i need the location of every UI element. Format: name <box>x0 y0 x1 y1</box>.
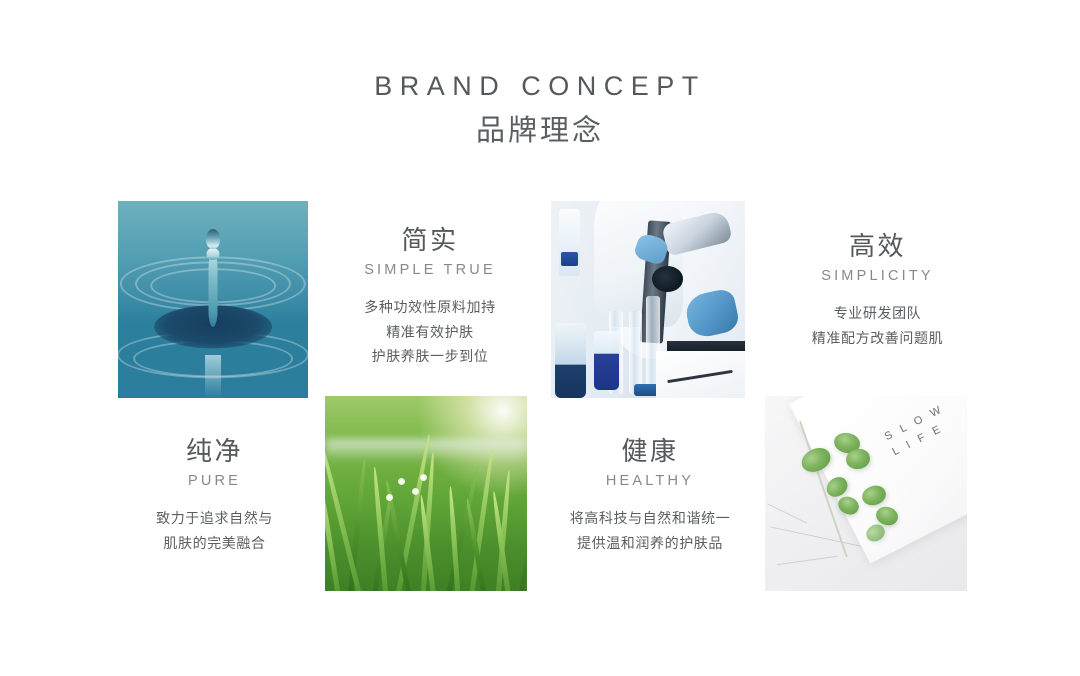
concept-description: 致力于追求自然与 肌肤的完美融合 <box>112 506 317 555</box>
concept-title-en: SIMPLE TRUE <box>330 262 530 279</box>
lab-coat-secondary <box>594 201 683 327</box>
droplet-bead <box>207 248 220 260</box>
concept-title-cn: 简实 <box>330 226 530 256</box>
water-droplet-photo <box>118 201 308 398</box>
small-flower <box>398 478 405 485</box>
slide-canvas: BRAND CONCEPT 品牌理念 简实 SIMPLE TRUE 多种功效性原… <box>0 0 1080 676</box>
concept-description-line: 多种功效性原料加持 <box>330 295 530 320</box>
falling-droplet <box>206 229 220 249</box>
concept-description-line: 精准配方改善问题肌 <box>770 326 985 351</box>
concept-description: 多种功效性原料加持 精准有效护肤 护肤养肤一步到位 <box>330 295 530 369</box>
concept-title-en: HEALTHY <box>540 473 760 490</box>
concept-block-healthy: 健康 HEALTHY 将高科技与自然和谐统一 提供温和润养的护肤品 <box>540 437 760 555</box>
page-header: BRAND CONCEPT 品牌理念 <box>0 72 1080 148</box>
microscope-lens <box>652 266 683 292</box>
glass-flask-blue <box>594 331 619 390</box>
concept-title-cn: 健康 <box>540 437 760 467</box>
concept-title-cn: 高效 <box>770 232 985 262</box>
droplet-reflection <box>205 355 221 398</box>
laboratory-photo <box>551 201 745 398</box>
concept-block-pure: 纯净 PURE 致力于追求自然与 肌肤的完美融合 <box>112 437 317 555</box>
concept-title-en: PURE <box>112 473 317 490</box>
small-flower <box>412 488 419 495</box>
concept-description-line: 提供温和润养的护肤品 <box>540 531 760 556</box>
water-column <box>209 252 218 327</box>
small-flower <box>420 474 427 481</box>
concept-block-simplicity: 高效 SIMPLICITY 专业研发团队 精准配方改善问题肌 <box>770 232 985 350</box>
small-flower <box>386 494 393 501</box>
concept-description-line: 致力于追求自然与 <box>112 506 317 531</box>
concept-description-line: 精准有效护肤 <box>330 320 530 345</box>
concept-description-line: 将高科技与自然和谐统一 <box>540 506 760 531</box>
concept-block-simple-true: 简实 SIMPLE TRUE 多种功效性原料加持 精准有效护肤 护肤养肤一步到位 <box>330 226 530 369</box>
page-title-chinese: 品牌理念 <box>0 116 1080 148</box>
grass-photo <box>325 396 527 591</box>
concept-description-line: 护肤养肤一步到位 <box>330 344 530 369</box>
glass-flask-dark <box>555 323 586 398</box>
glass-tube <box>629 311 643 394</box>
concept-description: 将高科技与自然和谐统一 提供温和润养的护肤品 <box>540 506 760 555</box>
slow-life-card-photo: S L O W L I F E <box>765 396 967 591</box>
concept-description-line: 专业研发团队 <box>770 301 985 326</box>
concept-title-cn: 纯净 <box>112 437 317 467</box>
concept-title-en: SIMPLICITY <box>770 268 985 285</box>
reagent-bottle-cap <box>561 252 578 266</box>
concept-description-line: 肌肤的完美融合 <box>112 531 317 556</box>
concept-description: 专业研发团队 精准配方改善问题肌 <box>770 301 985 350</box>
page-title-english: BRAND CONCEPT <box>0 72 1080 102</box>
